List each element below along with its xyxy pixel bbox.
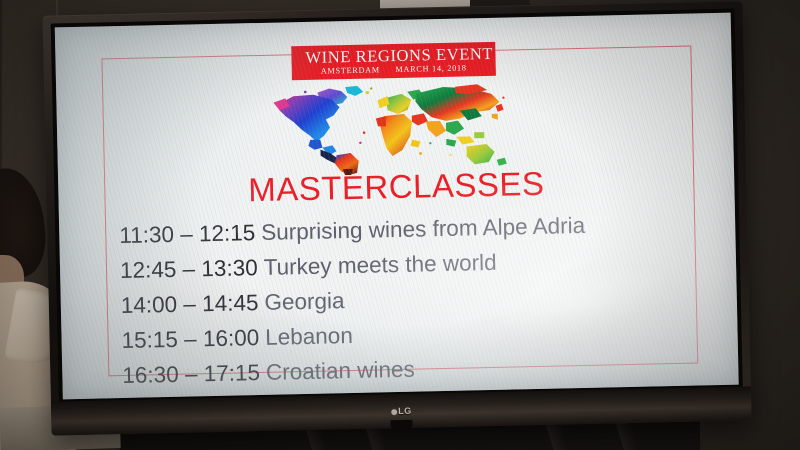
schedule-title: Turkey meets the world [263,250,496,280]
television: WINE REGIONS EVENT AMSTERDAM MARCH 14, 2… [43,0,752,435]
presentation-slide: WINE REGIONS EVENT AMSTERDAM MARCH 14, 2… [55,13,739,400]
ir-sensor-nub [390,420,412,429]
photograph: WINE REGIONS EVENT AMSTERDAM MARCH 14, 2… [0,0,800,450]
schedule-title: Surprising wines from Alpe Adria [261,213,585,245]
schedule-time: 15:15 – 16:00 [121,325,259,353]
event-date: MARCH 14, 2018 [395,64,466,75]
event-city: AMSTERDAM [321,66,380,76]
schedule-title: Croatian wines [266,357,415,385]
schedule-time: 11:30 – 12:15 [119,220,255,248]
event-banner: WINE REGIONS EVENT AMSTERDAM MARCH 14, 2… [291,42,496,81]
schedule-time: 16:30 – 17:15 [122,360,260,388]
masterclass-schedule: 11:30 – 12:15Surprising wines from Alpe … [119,205,705,393]
schedule-title: Lebanon [265,323,353,350]
tv-screen: WINE REGIONS EVENT AMSTERDAM MARCH 14, 2… [55,13,739,400]
lg-logo-mark [391,409,397,415]
schedule-time: 12:45 – 13:30 [120,255,258,283]
schedule-time: 14:00 – 14:45 [121,290,259,318]
lg-logo-text: LG [398,406,412,416]
stand-leg [545,421,571,450]
world-map-graphic [259,79,531,177]
schedule-title: Georgia [264,288,345,315]
stand-leg [615,420,641,450]
